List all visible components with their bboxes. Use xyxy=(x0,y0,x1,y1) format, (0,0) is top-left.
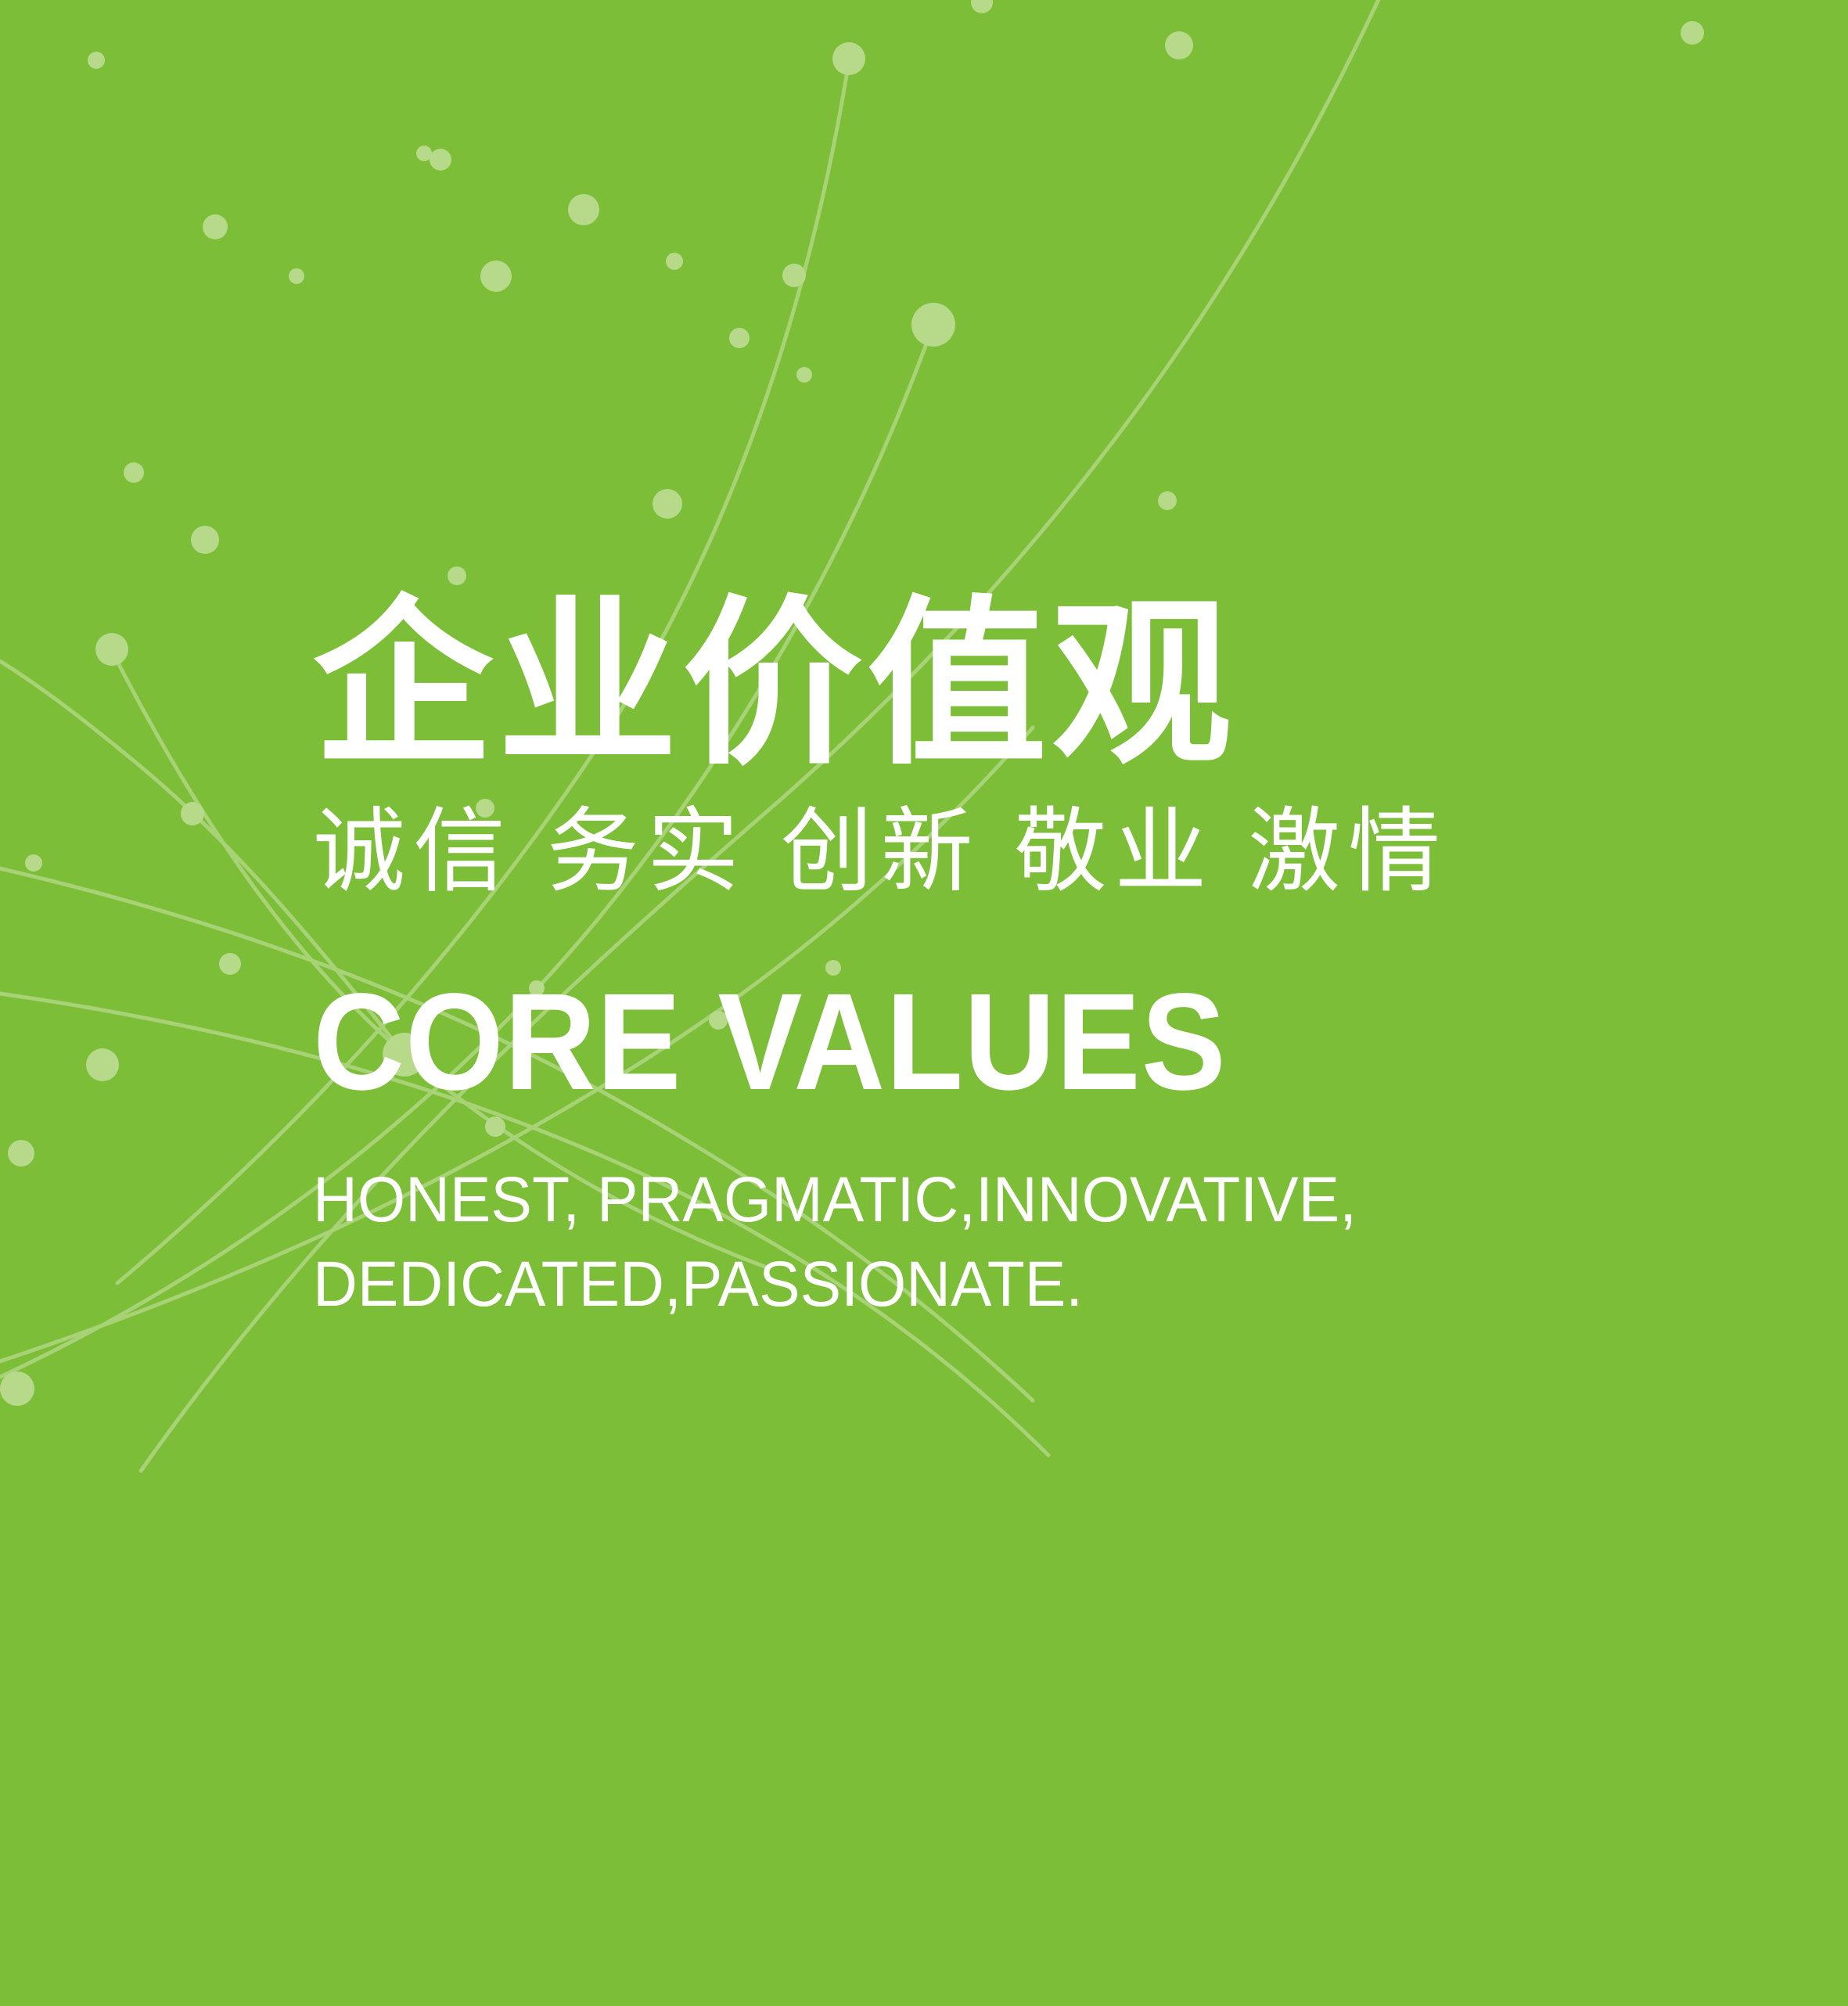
network-node-dot xyxy=(124,462,144,483)
network-node-dot xyxy=(796,367,812,383)
network-node-dot xyxy=(653,489,682,519)
network-node-dot xyxy=(8,1140,34,1167)
network-node-dot xyxy=(219,953,241,975)
network-node-dot xyxy=(448,566,466,585)
network-node-dot xyxy=(666,253,683,270)
network-node-dot xyxy=(191,526,219,554)
network-node-dot xyxy=(911,303,955,347)
network-node-dot xyxy=(430,149,451,171)
network-node-dot xyxy=(1158,491,1177,510)
network-node-dot xyxy=(86,1048,119,1081)
network-node-dot xyxy=(971,0,993,13)
page-title-english: CORE VALUES xyxy=(313,973,1609,1111)
page-title-chinese: 企业价值观 xyxy=(313,595,1721,775)
network-node-dot xyxy=(832,42,865,75)
network-node-dot xyxy=(289,268,304,284)
network-node-dot xyxy=(782,264,806,287)
poster-content: 企业价值观 诚信 务实 创新 敬业 激情 CORE VALUES HONEST,… xyxy=(313,595,1721,1327)
core-values-poster: 企业价值观 诚信 务实 创新 敬业 激情 CORE VALUES HONEST,… xyxy=(0,0,1848,2006)
network-node-dot xyxy=(480,261,512,292)
network-node-dot xyxy=(181,802,204,825)
network-node-dot xyxy=(95,633,128,666)
network-node-dot xyxy=(1681,21,1704,45)
network-node-dot xyxy=(0,1371,34,1406)
network-node-dot xyxy=(568,194,599,225)
network-node-dot xyxy=(203,214,228,239)
network-node-dot xyxy=(729,328,750,348)
network-node-dot xyxy=(88,52,105,69)
body-english-values: HONEST, PRAGMATIC,INNOVATIVE, DEDICATED,… xyxy=(313,1158,1665,1327)
network-node-dot xyxy=(416,146,432,161)
body-english-line-2: DEDICATED,PASSIONATE. xyxy=(313,1242,1665,1327)
subtitle-chinese-values: 诚信 务实 创新 敬业 激情 xyxy=(313,806,1721,898)
network-node-dot xyxy=(1165,31,1193,59)
network-node-dot xyxy=(25,854,42,872)
body-english-line-1: HONEST, PRAGMATIC,INNOVATIVE, xyxy=(313,1158,1665,1242)
